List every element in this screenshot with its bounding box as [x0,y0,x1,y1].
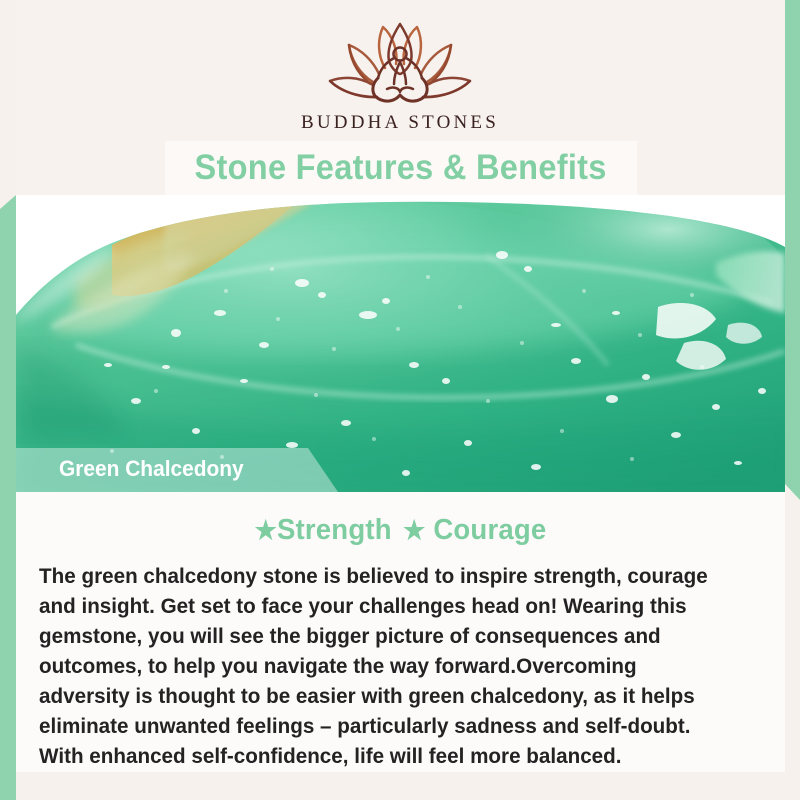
benefit-strength: Strength [277,514,392,546]
green-chalcedony-image [16,195,785,492]
star-icon-strength: ★ [255,515,277,545]
content-panel: ★Strength★ Courage The green chalcedony … [16,492,785,772]
brand-logo: BUDDHA STONES [15,22,785,134]
footer-strip [16,772,785,800]
benefits-tagline: ★Strength★ Courage [35,492,766,547]
description-paragraph: The green chalcedony stone is believed t… [16,547,754,771]
lotus-meditation-icon [325,22,475,108]
stone-photo: Green Chalcedony [16,195,785,492]
decor-band-right [785,0,800,500]
benefit-courage: Courage [433,514,546,546]
decor-band-left [0,195,16,800]
star-icon-courage: ★ [403,515,425,545]
title-banner: Stone Features & Benefits [165,141,637,195]
page-title: Stone Features & Benefits [195,148,607,188]
brand-name: BUDDHA STONES [15,112,785,134]
poster-canvas: BUDDHA STONES Stone Features & Benefits [0,0,800,800]
photo-caption: Green Chalcedony [59,456,244,482]
